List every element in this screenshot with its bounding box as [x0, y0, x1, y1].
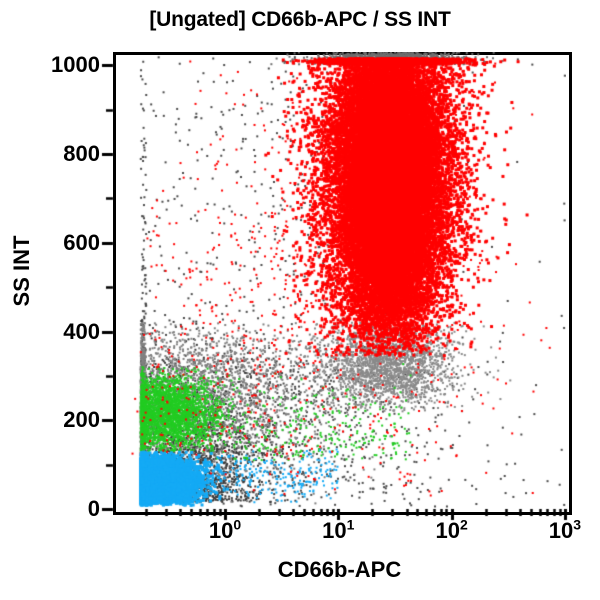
page-title: [Ungated] CD66b-APC / SS INT — [0, 8, 600, 32]
y-tick-label: 600 — [30, 230, 100, 256]
y-axis-title: SS INT — [9, 211, 35, 331]
flow-cytometry-figure: [Ungated] CD66b-APC / SS INT 02004006008… — [0, 0, 600, 600]
x-tick-label: 100 — [209, 518, 241, 544]
y-tick-label: 200 — [30, 407, 100, 433]
x-tick-label: 103 — [549, 518, 581, 544]
y-tick-label: 800 — [30, 141, 100, 167]
y-tick-label: 1000 — [30, 52, 100, 78]
y-tick-label: 0 — [30, 496, 100, 522]
scatter-plot-canvas — [113, 52, 566, 509]
y-tick-label: 400 — [30, 319, 100, 345]
x-tick-label: 101 — [322, 518, 354, 544]
x-tick-label: 102 — [435, 518, 467, 544]
x-axis-title: CD66b-APC — [113, 557, 566, 583]
